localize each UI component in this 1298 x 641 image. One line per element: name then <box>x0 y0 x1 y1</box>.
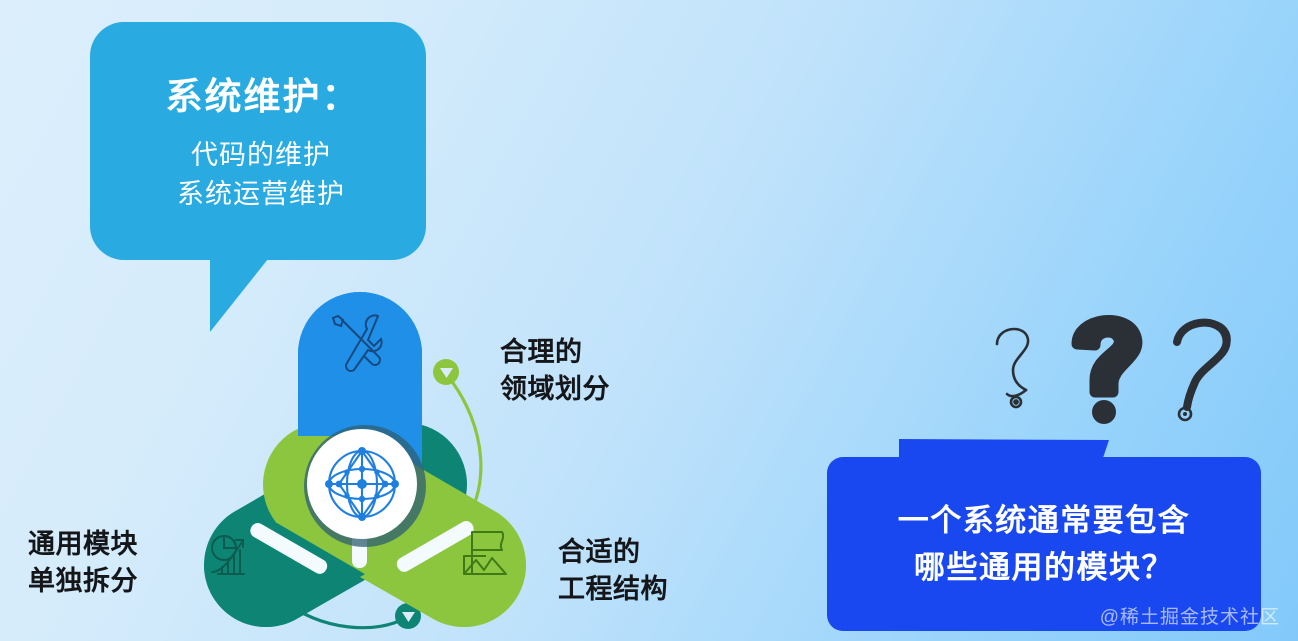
watermark: @稀土掘金技术社区 <box>1100 602 1280 629</box>
bubble-line-1: 代码的维护 <box>90 136 426 174</box>
label-structure-line1: 合适的 <box>558 534 668 571</box>
bubble-title: 系统维护： <box>90 74 426 120</box>
question-mark-bold-icon <box>1077 321 1137 424</box>
arm-top-overlap <box>298 292 422 436</box>
label-module: 通用模块 单独拆分 <box>28 526 138 601</box>
label-structure-line2: 工程结构 <box>558 571 668 608</box>
banner-line-1: 一个系统通常要包含 <box>898 497 1191 544</box>
question-marks-group <box>985 312 1250 432</box>
label-domain-line2: 领域划分 <box>500 371 610 408</box>
label-module-line1: 通用模块 <box>28 526 138 563</box>
question-mark-outline-icon <box>1177 321 1230 420</box>
label-domain: 合理的 领域划分 <box>500 334 610 409</box>
label-structure: 合适的 工程结构 <box>558 534 668 609</box>
banner-line-2: 哪些通用的模块？ <box>914 544 1174 591</box>
speech-bubble-text: 系统维护： 代码的维护 系统运营维护 <box>90 22 426 260</box>
maintenance-speech-bubble: 系统维护： 代码的维护 系统运营维护 <box>90 22 426 260</box>
slide-canvas: 系统维护： 代码的维护 系统运营维护 <box>0 0 1298 641</box>
label-module-line2: 单独拆分 <box>28 563 138 600</box>
bubble-line-2: 系统运营维护 <box>90 175 426 213</box>
label-domain-line1: 合理的 <box>500 334 610 371</box>
question-mark-thin-icon <box>997 329 1028 407</box>
